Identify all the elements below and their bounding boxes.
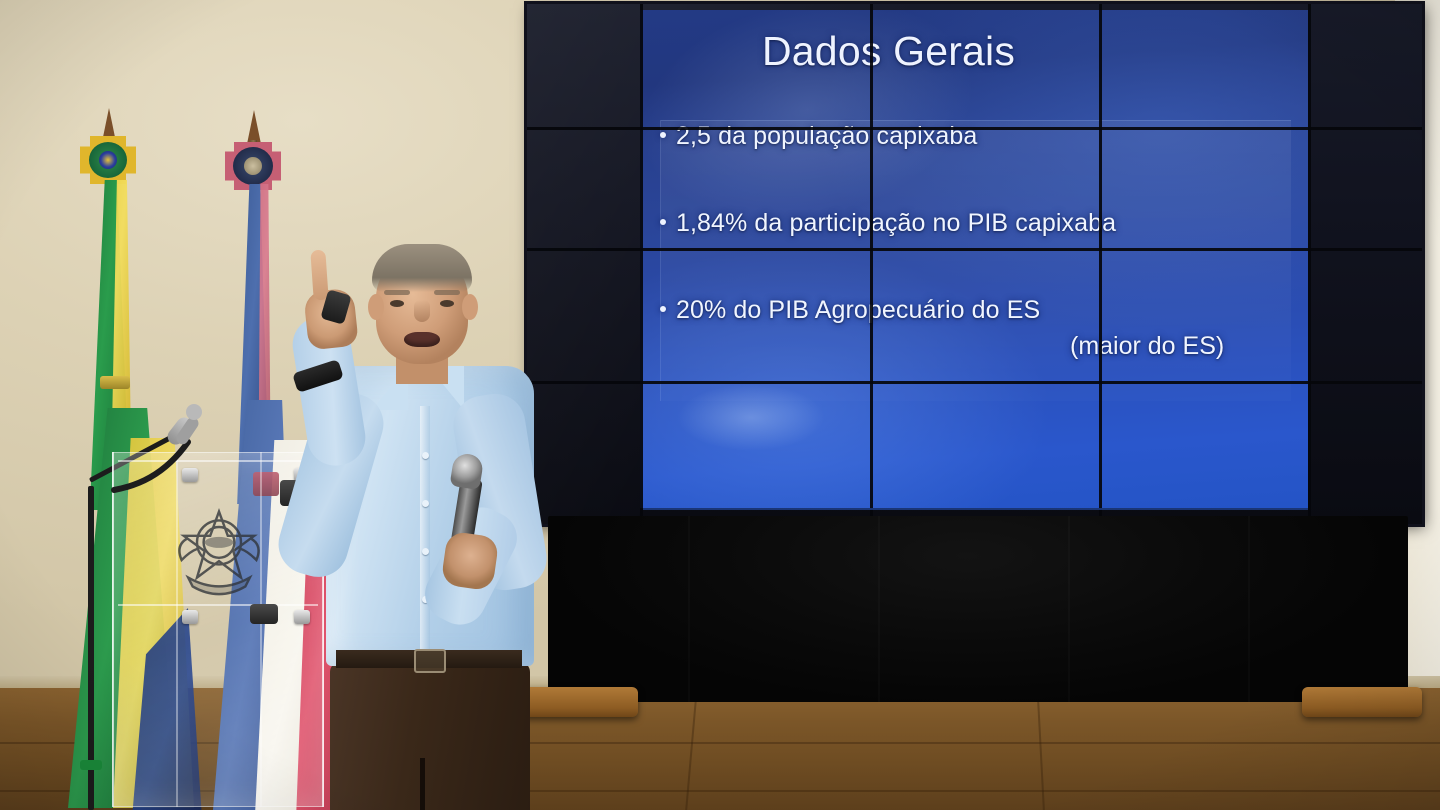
lectern-bolt	[182, 610, 198, 624]
drape-fold	[688, 516, 690, 702]
flag-finial-icon	[247, 110, 261, 144]
bullet-dot-icon	[660, 306, 666, 312]
panel-seam-vertical	[1308, 4, 1311, 524]
drape-fold	[1068, 516, 1070, 702]
panel-seam-vertical	[640, 4, 643, 524]
led-video-wall[interactable]: Dados Gerais 2,5 da população capixaba 1…	[527, 4, 1422, 524]
stand-marker	[80, 760, 102, 770]
panel-seam-horizontal	[527, 127, 1422, 130]
presenter-trousers	[330, 662, 530, 810]
coat-of-arms-icon	[164, 494, 274, 604]
presenter-brow	[384, 290, 410, 295]
presenter-eye	[440, 300, 454, 307]
drape-fold	[878, 516, 880, 702]
trouser-crease	[420, 758, 425, 810]
presenter-left-hand	[440, 531, 499, 592]
presenter-hair	[372, 244, 472, 292]
shirt-button	[422, 548, 429, 555]
presenter-ear	[368, 294, 384, 320]
shirt-button	[422, 452, 429, 459]
drape-fold	[1248, 516, 1250, 702]
panel-seam-horizontal	[527, 248, 1422, 251]
presenter-ear	[462, 294, 478, 320]
lectern-edge	[112, 452, 114, 807]
slide-title: Dados Gerais	[762, 28, 1015, 75]
flag-rosette-icon	[80, 136, 136, 184]
presenter-nose	[414, 300, 430, 322]
drape-sandbag	[1302, 687, 1422, 717]
flag-rosette-icon	[225, 142, 281, 190]
presenter	[268, 238, 598, 810]
panel-seam-vertical	[870, 4, 873, 524]
belt-buckle	[414, 649, 446, 673]
bullet-text: 1,84% da participação no PIB capixaba	[676, 209, 1116, 238]
gooseneck-microphone-icon	[102, 390, 252, 500]
bullet-text: 20% do PIB Agropecuário do ES	[676, 296, 1040, 325]
bullet-dot-icon	[660, 132, 666, 138]
presenter-mouth	[404, 332, 440, 347]
shirt-placket	[420, 406, 430, 658]
shirt-button	[422, 500, 429, 507]
presentation-scene: Dados Gerais 2,5 da população capixaba 1…	[0, 0, 1440, 810]
panel-seam-horizontal	[527, 381, 1422, 384]
list-item: 20% do PIB Agropecuário do ES	[660, 296, 1300, 325]
presenter-eye	[390, 300, 404, 307]
slide-subline: (maior do ES)	[1070, 332, 1224, 361]
list-item: 1,84% da participação no PIB capixaba	[660, 209, 1300, 238]
bullet-dot-icon	[660, 219, 666, 225]
slide-surface: Dados Gerais 2,5 da população capixaba 1…	[640, 10, 1308, 508]
presenter-brow	[434, 290, 460, 295]
stage-drape	[548, 516, 1408, 702]
panel-seam-highlight	[643, 508, 1308, 510]
flag-clamp	[100, 376, 130, 389]
raised-index-finger	[310, 250, 328, 301]
panel-seam-vertical	[1099, 4, 1102, 524]
